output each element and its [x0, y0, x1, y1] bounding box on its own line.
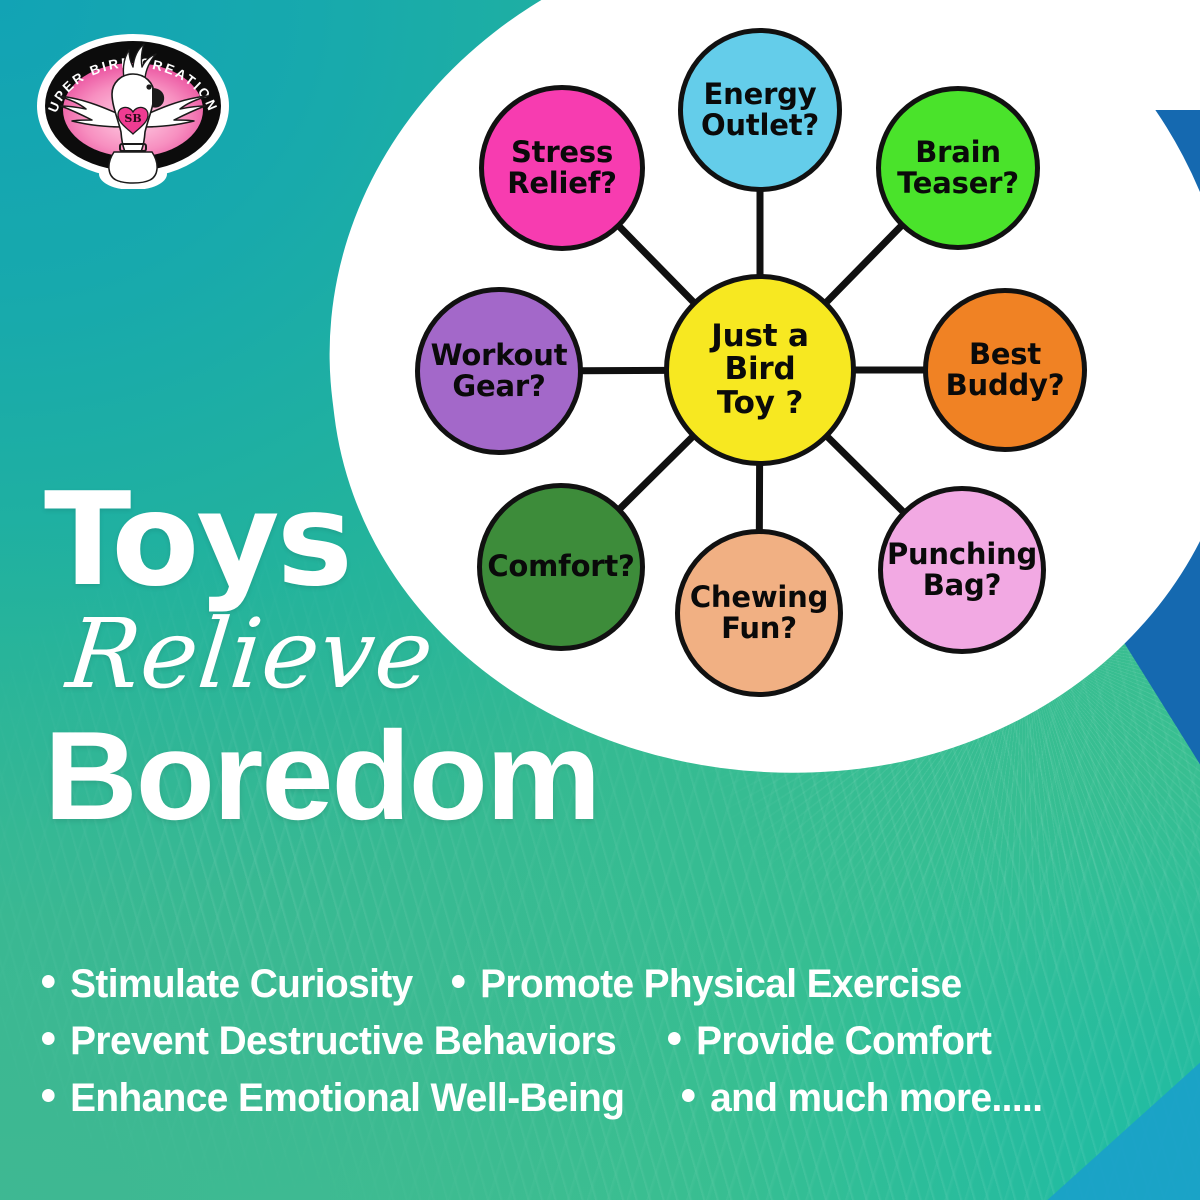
mindmap-node-workout-gear[interactable]: WorkoutGear? [415, 287, 583, 455]
headline-line-boredom: Boredom [44, 716, 599, 836]
mindmap-node-stress-relief[interactable]: StressRelief? [479, 85, 645, 251]
bullet-dot-icon [682, 1089, 695, 1102]
list-item-label: Prevent Destructive Behaviors [70, 1019, 616, 1064]
logo-eye-icon [146, 84, 151, 89]
poster-canvas: SUPER BIRD CREATIONS SB StressRelief?Ene… [0, 0, 1200, 1200]
list-item-label: Enhance Emotional Well-Being [70, 1076, 624, 1121]
mindmap-node-label: EnergyOutlet? [695, 79, 825, 142]
list-item: Prevent Destructive Behaviors [42, 1019, 616, 1064]
headline-line-toys: Toys [44, 482, 583, 600]
bullet-dot-icon [42, 975, 55, 988]
benefits-row: Prevent Destructive Behaviors Provide Co… [42, 1019, 1162, 1064]
list-item: and much more..... [682, 1076, 1042, 1121]
mindmap-center-node[interactable]: Just aBirdToy ? [664, 274, 856, 466]
mindmap-node-brain-teaser[interactable]: BrainTeaser? [876, 86, 1040, 250]
mindmap-node-label: BrainTeaser? [891, 137, 1025, 200]
benefits-list: Stimulate Curiosity Promote Physical Exe… [42, 962, 1162, 1133]
list-item-label: and much more..... [711, 1076, 1043, 1121]
list-item-label: Provide Comfort [696, 1019, 991, 1064]
bullet-dot-icon [42, 1089, 55, 1102]
list-item: Enhance Emotional Well-Being [42, 1076, 624, 1121]
list-item: Stimulate Curiosity [42, 962, 413, 1007]
benefits-row: Enhance Emotional Well-Being and much mo… [42, 1076, 1162, 1121]
list-item-label: Promote Physical Exercise [480, 962, 961, 1007]
logo-monogram: SB [124, 112, 141, 125]
brand-logo: SUPER BIRD CREATIONS SB [28, 24, 238, 189]
benefits-row: Stimulate Curiosity Promote Physical Exe… [42, 962, 1162, 1007]
headline-line-relieve: Relieve [63, 606, 588, 702]
mindmap-node-energy-outlet[interactable]: EnergyOutlet? [678, 28, 842, 192]
list-item-label: Stimulate Curiosity [70, 962, 413, 1007]
list-item: Promote Physical Exercise [452, 962, 962, 1007]
bullet-dot-icon [668, 1032, 681, 1045]
mindmap-node-label: PunchingBag? [881, 539, 1043, 602]
mindmap-node-best-buddy[interactable]: BestBuddy? [923, 288, 1087, 452]
headline-block: Toys Relieve Boredom [44, 482, 583, 835]
mindmap-node-label: StressRelief? [501, 137, 623, 200]
mindmap-node-label: ChewingFun? [684, 582, 834, 645]
mindmap-node-label: BestBuddy? [940, 339, 1071, 402]
mindmap-node-label: Just aBirdToy ? [705, 320, 814, 420]
bullet-dot-icon [42, 1032, 55, 1045]
mindmap-node-label: WorkoutGear? [425, 340, 574, 403]
logo-tail-fill-icon [109, 152, 157, 183]
mindmap-node-punching-bag[interactable]: PunchingBag? [878, 486, 1046, 654]
list-item: Provide Comfort [668, 1019, 991, 1064]
mindmap-node-chewing-fun[interactable]: ChewingFun? [675, 529, 843, 697]
bullet-dot-icon [452, 975, 465, 988]
